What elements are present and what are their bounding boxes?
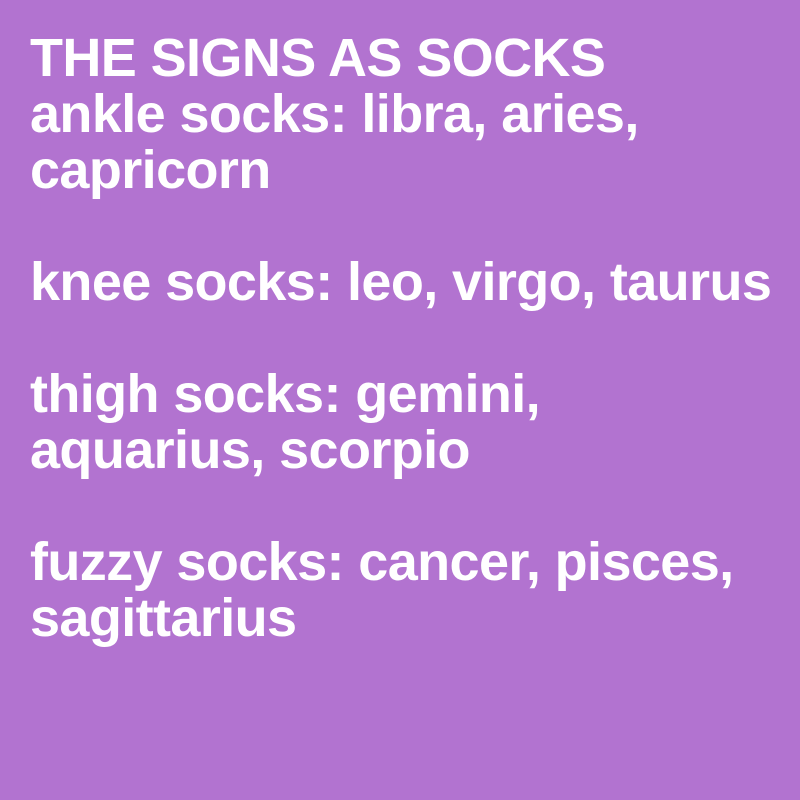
post-line-knee-socks: knee socks: leo, virgo, taurus bbox=[30, 254, 778, 310]
post-line-fuzzy-socks: fuzzy socks: cancer, pisces, sagittarius bbox=[30, 534, 778, 646]
post-line-spacer-2 bbox=[30, 310, 778, 366]
post-title: THE SIGNS AS SOCKS bbox=[30, 30, 778, 86]
post-line-thigh-socks: thigh socks: gemini, aquarius, scorpio bbox=[30, 366, 778, 478]
text-post-card: THE SIGNS AS SOCKS ankle socks: libra, a… bbox=[0, 0, 800, 800]
post-line-spacer-1 bbox=[30, 198, 778, 254]
post-line-ankle-socks: ankle socks: libra, aries, capricorn bbox=[30, 86, 778, 198]
post-text-block: THE SIGNS AS SOCKS ankle socks: libra, a… bbox=[30, 30, 778, 646]
post-line-spacer-3 bbox=[30, 478, 778, 534]
